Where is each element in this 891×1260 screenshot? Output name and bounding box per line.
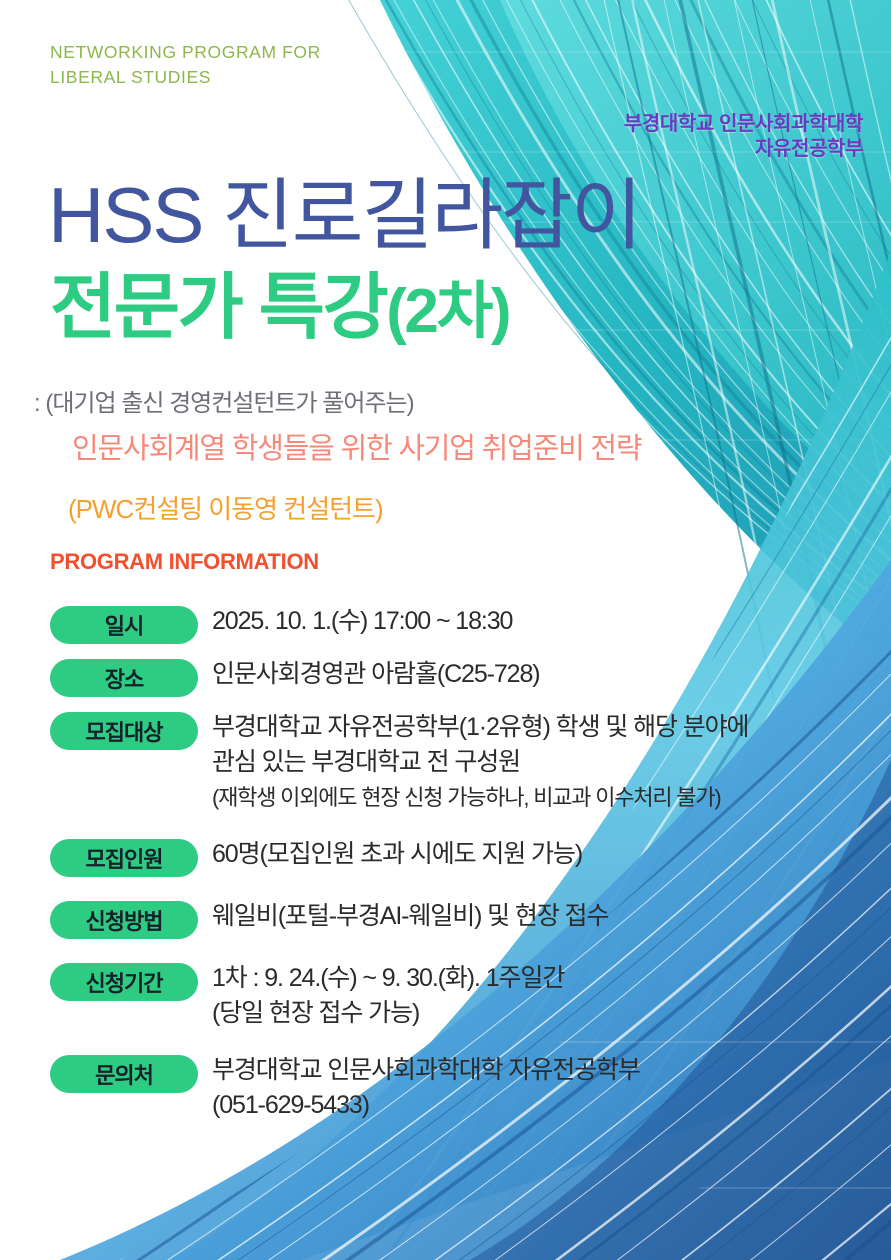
info-value: 부경대학교 자유전공학부(1·2유형) 학생 및 해당 분야에 관심 있는 부경… <box>198 710 880 815</box>
info-value: 부경대학교 인문사회과학대학 자유전공학부 (051-629-5433) <box>198 1053 880 1123</box>
info-label-pill: 신청기간 <box>50 963 198 1001</box>
info-row: 모집대상부경대학교 자유전공학부(1·2유형) 학생 및 해당 분야에 관심 있… <box>50 710 880 815</box>
info-value: 1차 : 9. 24.(수) ~ 9. 30.(화). 1주일간 (당일 현장 … <box>198 961 880 1031</box>
info-label-pill: 일시 <box>50 606 198 644</box>
speaker-text: (PWC컨설팅 이동영 컨설턴트) <box>68 492 383 526</box>
info-label-pill: 문의처 <box>50 1055 198 1093</box>
department-text: 부경대학교 인문사회과학대학 자유전공학부 <box>624 112 863 162</box>
info-value-note: (재학생 이외에도 현장 신청 가능하나, 비교과 이수처리 불가) <box>212 785 721 810</box>
info-value: 웨일비(포털-부경AI-웨일비) 및 현장 접수 <box>198 899 880 934</box>
subtitle-line-2: 인문사회계열 학생들을 위한 사기업 취업준비 전략 <box>72 430 641 468</box>
info-row: 모집인원60명(모집인원 초과 시에도 지원 가능) <box>50 837 880 877</box>
info-value: 2025. 10. 1.(수) 17:00 ~ 18:30 <box>198 604 880 639</box>
info-value: 인문사회경영관 아람홀(C25-728) <box>198 657 880 692</box>
section-label-program-information: PROGRAM INFORMATION <box>50 548 319 576</box>
title-line-2-suffix: (2차) <box>386 277 509 346</box>
title-line-1: HSS 진로길라잡이 <box>48 172 641 258</box>
subtitle-line-1: : (대기업 출신 경영컨설턴트가 풀어주는) <box>34 388 414 420</box>
info-row: 신청방법웨일비(포털-부경AI-웨일비) 및 현장 접수 <box>50 899 880 939</box>
info-row: 문의처부경대학교 인문사회과학대학 자유전공학부 (051-629-5433) <box>50 1053 880 1123</box>
title-line-2: 전문가 특강(2차) <box>50 268 509 352</box>
poster-root: NETWORKING PROGRAM FOR LIBERAL STUDIES 부… <box>0 0 891 1260</box>
program-information-list: 일시2025. 10. 1.(수) 17:00 ~ 18:30장소인문사회경영관… <box>50 604 880 1136</box>
info-label-pill: 모집대상 <box>50 712 198 750</box>
info-value: 60명(모집인원 초과 시에도 지원 가능) <box>198 837 880 872</box>
info-row: 장소인문사회경영관 아람홀(C25-728) <box>50 657 880 697</box>
title-line-2-main: 전문가 특강 <box>50 268 386 348</box>
info-label-pill: 신청방법 <box>50 901 198 939</box>
info-row: 신청기간1차 : 9. 24.(수) ~ 9. 30.(화). 1주일간 (당일… <box>50 961 880 1031</box>
info-row: 일시2025. 10. 1.(수) 17:00 ~ 18:30 <box>50 604 880 644</box>
eyebrow-text: NETWORKING PROGRAM FOR LIBERAL STUDIES <box>50 40 321 90</box>
info-label-pill: 모집인원 <box>50 839 198 877</box>
info-label-pill: 장소 <box>50 659 198 697</box>
poster-content: NETWORKING PROGRAM FOR LIBERAL STUDIES 부… <box>0 0 891 1260</box>
